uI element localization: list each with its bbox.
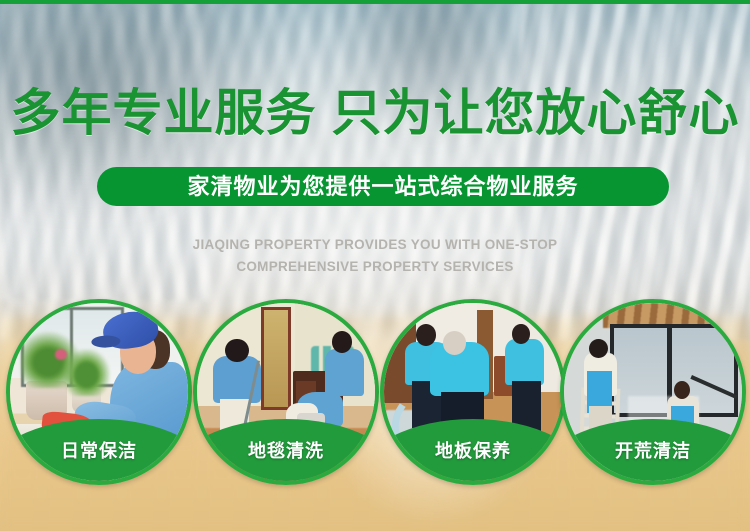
english-subtitle-line-1: JIAQING PROPERTY PROVIDES YOU WITH ONE-S… xyxy=(0,234,750,256)
tagline-pill: 家清物业为您提供一站式综合物业服务 xyxy=(97,167,669,206)
service-circle-floor-maintenance[interactable]: 地板保养 xyxy=(380,299,566,485)
service-label-daily-cleaning: 日常保洁 xyxy=(10,437,188,463)
service-label-carpet-cleaning: 地毯清洗 xyxy=(197,437,375,463)
english-subtitle: JIAQING PROPERTY PROVIDES YOU WITH ONE-S… xyxy=(0,234,750,278)
headline: 多年专业服务 只为让您放心舒心 xyxy=(0,84,750,142)
service-label-post-construction-cleaning: 开荒清洁 xyxy=(564,437,742,463)
service-circle-carpet-cleaning[interactable]: 地毯清洗 xyxy=(193,299,379,485)
service-circle-row: 日常保洁 地毯清洗 地板保养 xyxy=(0,299,750,489)
service-circle-post-construction-cleaning[interactable]: 开荒清洁 xyxy=(560,299,746,485)
service-label-floor-maintenance: 地板保养 xyxy=(384,437,562,463)
top-green-rule xyxy=(0,0,750,4)
tagline-text: 家清物业为您提供一站式综合物业服务 xyxy=(187,176,578,198)
promotional-banner: 多年专业服务 只为让您放心舒心 家清物业为您提供一站式综合物业服务 JIAQIN… xyxy=(0,0,750,531)
english-subtitle-line-2: COMPREHENSIVE PROPERTY SERVICES xyxy=(0,256,750,278)
service-circle-daily-cleaning[interactable]: 日常保洁 xyxy=(6,299,192,485)
